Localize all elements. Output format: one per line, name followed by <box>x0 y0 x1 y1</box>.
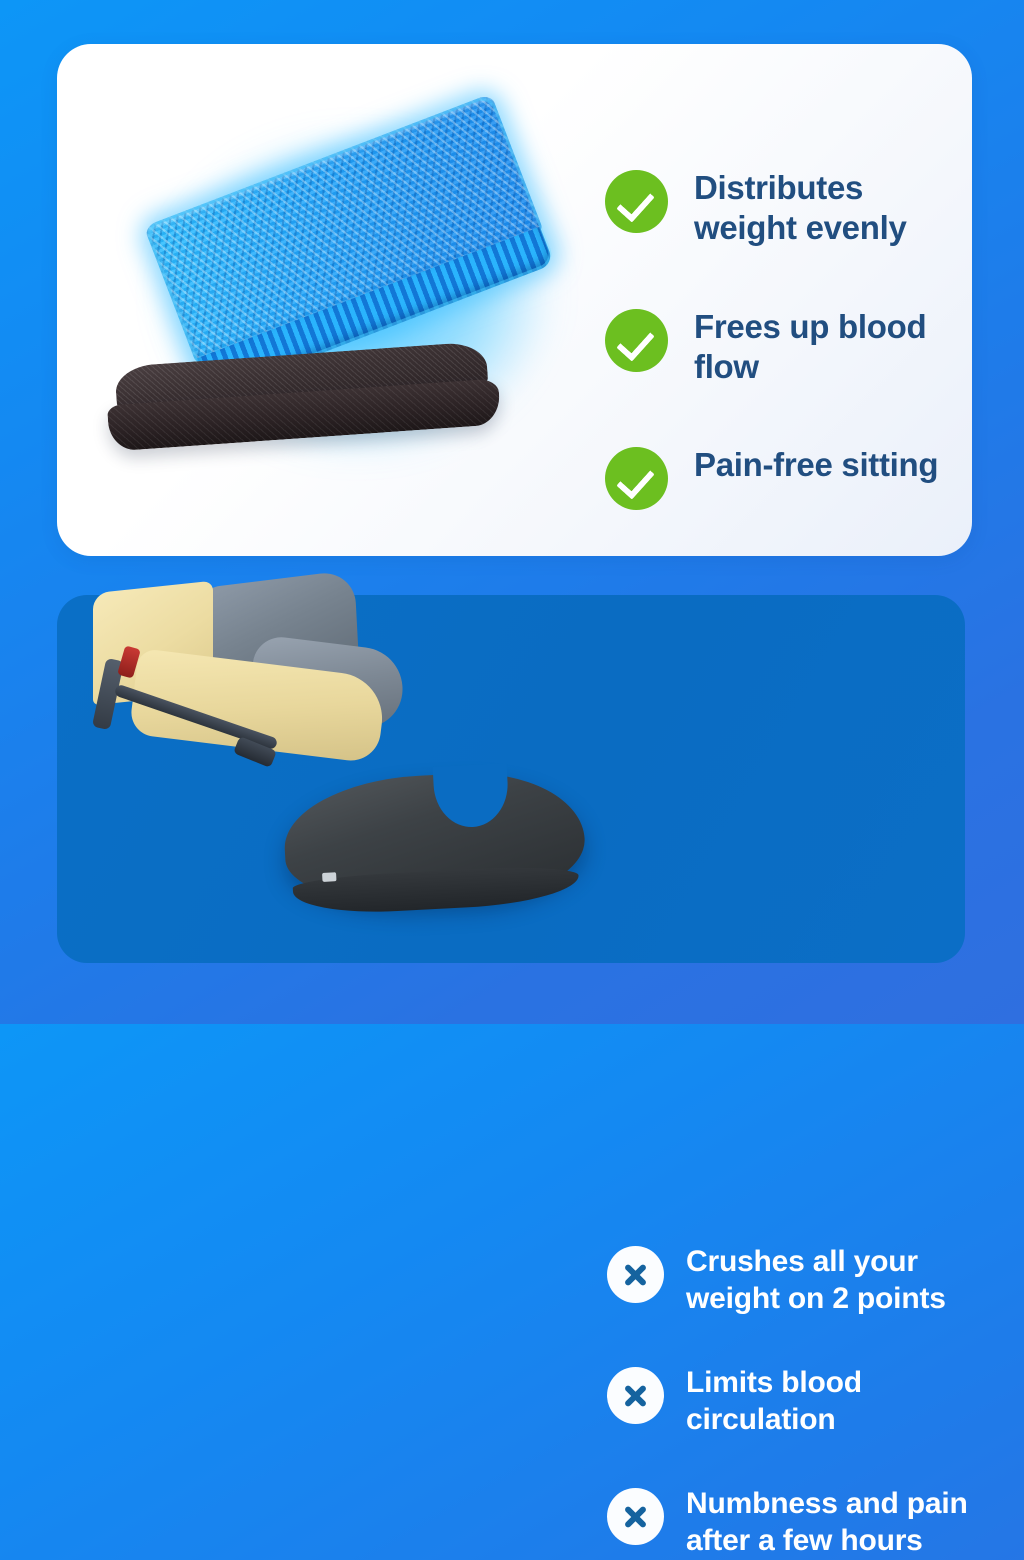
car-seat-cutaway-graphic <box>75 585 425 785</box>
benefits-list: Distributes weight evenly Frees up blood… <box>605 166 965 510</box>
drawback-label: Numbness and pain after a few hours <box>686 1485 1007 1559</box>
x-icon <box>607 1367 664 1424</box>
benefit-label: Pain-free sitting <box>694 443 938 485</box>
drawback-item: Limits blood circulation <box>607 1364 1007 1438</box>
check-icon <box>605 170 668 233</box>
foam-brand-tag <box>322 872 336 882</box>
x-icon <box>607 1488 664 1545</box>
drawback-label: Crushes all your weight on 2 points <box>686 1243 1007 1317</box>
check-icon <box>605 309 668 372</box>
foam-cushion-graphic <box>281 767 588 932</box>
drawbacks-list: Crushes all your weight on 2 points Limi… <box>607 1243 1007 1560</box>
gel-cushion-product-image <box>67 54 567 546</box>
benefit-label: Frees up blood flow <box>694 305 965 388</box>
drawback-item: Numbness and pain after a few hours <box>607 1485 1007 1559</box>
con-comparison-card: Crushes all your weight on 2 points Limi… <box>57 595 965 963</box>
benefit-item: Distributes weight evenly <box>605 166 965 249</box>
benefit-item: Pain-free sitting <box>605 443 965 510</box>
car-seat-product-image <box>57 585 577 965</box>
drawback-item: Crushes all your weight on 2 points <box>607 1243 1007 1317</box>
drawback-label: Limits blood circulation <box>686 1364 1007 1438</box>
benefit-label: Distributes weight evenly <box>694 166 965 249</box>
x-icon <box>607 1246 664 1303</box>
benefit-item: Frees up blood flow <box>605 305 965 388</box>
pro-comparison-card: Distributes weight evenly Frees up blood… <box>57 44 972 556</box>
check-icon <box>605 447 668 510</box>
